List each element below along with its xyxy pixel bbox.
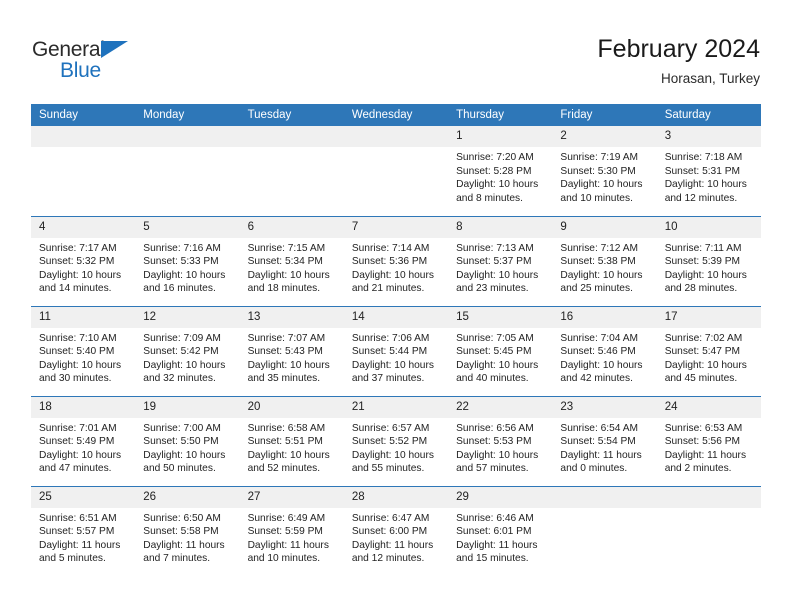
- daylight-line2-text: and 8 minutes.: [456, 192, 546, 206]
- sunrise-text: Sunrise: 7:11 AM: [665, 242, 755, 256]
- daylight-line2-text: and 23 minutes.: [456, 282, 546, 296]
- sunrise-text: Sunrise: 7:16 AM: [143, 242, 233, 256]
- sunset-text: Sunset: 5:52 PM: [352, 435, 442, 449]
- calendar-day-cell[interactable]: 14Sunrise: 7:06 AMSunset: 5:44 PMDayligh…: [344, 306, 448, 396]
- day-details: Sunrise: 7:09 AMSunset: 5:42 PMDaylight:…: [135, 328, 239, 386]
- sunrise-text: Sunrise: 7:09 AM: [143, 332, 233, 346]
- calendar-day-cell[interactable]: 29Sunrise: 6:46 AMSunset: 6:01 PMDayligh…: [448, 486, 552, 576]
- day-number: [344, 126, 448, 147]
- daylight-line2-text: and 12 minutes.: [665, 192, 755, 206]
- sunset-text: Sunset: 5:49 PM: [39, 435, 129, 449]
- calendar-cell-inner: 16Sunrise: 7:04 AMSunset: 5:46 PMDayligh…: [552, 307, 656, 396]
- calendar-cell-inner: 20Sunrise: 6:58 AMSunset: 5:51 PMDayligh…: [240, 397, 344, 486]
- calendar-day-cell[interactable]: 2Sunrise: 7:19 AMSunset: 5:30 PMDaylight…: [552, 126, 656, 216]
- calendar-cell-inner: 11Sunrise: 7:10 AMSunset: 5:40 PMDayligh…: [31, 307, 135, 396]
- sunset-text: Sunset: 5:43 PM: [248, 345, 338, 359]
- daylight-line1-text: Daylight: 10 hours: [248, 269, 338, 283]
- sunrise-text: Sunrise: 7:00 AM: [143, 422, 233, 436]
- day-details: Sunrise: 7:07 AMSunset: 5:43 PMDaylight:…: [240, 328, 344, 386]
- calendar-cell-inner: [240, 126, 344, 216]
- day-number: 5: [135, 217, 239, 238]
- calendar-day-cell[interactable]: 15Sunrise: 7:05 AMSunset: 5:45 PMDayligh…: [448, 306, 552, 396]
- daylight-line2-text: and 47 minutes.: [39, 462, 129, 476]
- weekday-header-monday: Monday: [135, 104, 239, 126]
- daylight-line1-text: Daylight: 10 hours: [560, 178, 650, 192]
- sunrise-text: Sunrise: 7:13 AM: [456, 242, 546, 256]
- day-number: [240, 126, 344, 147]
- calendar-day-cell[interactable]: 1Sunrise: 7:20 AMSunset: 5:28 PMDaylight…: [448, 126, 552, 216]
- calendar-day-cell[interactable]: 4Sunrise: 7:17 AMSunset: 5:32 PMDaylight…: [31, 216, 135, 306]
- day-number: [657, 487, 761, 508]
- calendar-cell-inner: 19Sunrise: 7:00 AMSunset: 5:50 PMDayligh…: [135, 397, 239, 486]
- calendar-cell-inner: 25Sunrise: 6:51 AMSunset: 5:57 PMDayligh…: [31, 487, 135, 577]
- sunset-text: Sunset: 5:33 PM: [143, 255, 233, 269]
- sunset-text: Sunset: 5:30 PM: [560, 165, 650, 179]
- calendar-week-row: 11Sunrise: 7:10 AMSunset: 5:40 PMDayligh…: [31, 306, 761, 396]
- location-subtitle: Horasan, Turkey: [597, 70, 760, 88]
- sunset-text: Sunset: 5:34 PM: [248, 255, 338, 269]
- sunrise-text: Sunrise: 7:01 AM: [39, 422, 129, 436]
- sunrise-text: Sunrise: 6:51 AM: [39, 512, 129, 526]
- calendar-day-cell[interactable]: 13Sunrise: 7:07 AMSunset: 5:43 PMDayligh…: [240, 306, 344, 396]
- calendar-week-row: 18Sunrise: 7:01 AMSunset: 5:49 PMDayligh…: [31, 396, 761, 486]
- calendar-cell-inner: [552, 487, 656, 577]
- sunset-text: Sunset: 5:32 PM: [39, 255, 129, 269]
- sunset-text: Sunset: 6:00 PM: [352, 525, 442, 539]
- page-title: February 2024: [597, 34, 760, 64]
- calendar-cell-inner: 5Sunrise: 7:16 AMSunset: 5:33 PMDaylight…: [135, 217, 239, 306]
- daylight-line2-text: and 14 minutes.: [39, 282, 129, 296]
- blue-triangle-icon: [101, 41, 128, 58]
- day-details: Sunrise: 6:47 AMSunset: 6:00 PMDaylight:…: [344, 508, 448, 566]
- daylight-line1-text: Daylight: 11 hours: [248, 539, 338, 553]
- daylight-line1-text: Daylight: 10 hours: [665, 269, 755, 283]
- daylight-line1-text: Daylight: 10 hours: [248, 449, 338, 463]
- daylight-line2-text: and 18 minutes.: [248, 282, 338, 296]
- sunset-text: Sunset: 6:01 PM: [456, 525, 546, 539]
- day-details: Sunrise: 7:01 AMSunset: 5:49 PMDaylight:…: [31, 418, 135, 476]
- daylight-line1-text: Daylight: 10 hours: [456, 269, 546, 283]
- daylight-line1-text: Daylight: 11 hours: [39, 539, 129, 553]
- day-number: 11: [31, 307, 135, 328]
- calendar-day-cell[interactable]: 6Sunrise: 7:15 AMSunset: 5:34 PMDaylight…: [240, 216, 344, 306]
- day-number: 7: [344, 217, 448, 238]
- calendar-day-cell[interactable]: 24Sunrise: 6:53 AMSunset: 5:56 PMDayligh…: [657, 396, 761, 486]
- daylight-line1-text: Daylight: 11 hours: [143, 539, 233, 553]
- sunrise-text: Sunrise: 7:18 AM: [665, 151, 755, 165]
- calendar-week-row: 1Sunrise: 7:20 AMSunset: 5:28 PMDaylight…: [31, 126, 761, 216]
- daylight-line1-text: Daylight: 10 hours: [665, 178, 755, 192]
- calendar-cell-inner: 9Sunrise: 7:12 AMSunset: 5:38 PMDaylight…: [552, 217, 656, 306]
- calendar-day-cell[interactable]: 26Sunrise: 6:50 AMSunset: 5:58 PMDayligh…: [135, 486, 239, 576]
- sunset-text: Sunset: 5:36 PM: [352, 255, 442, 269]
- day-details: Sunrise: 6:58 AMSunset: 5:51 PMDaylight:…: [240, 418, 344, 476]
- calendar-week-row: 4Sunrise: 7:17 AMSunset: 5:32 PMDaylight…: [31, 216, 761, 306]
- daylight-line1-text: Daylight: 10 hours: [39, 449, 129, 463]
- weekday-header-tuesday: Tuesday: [240, 104, 344, 126]
- calendar-day-cell[interactable]: 28Sunrise: 6:47 AMSunset: 6:00 PMDayligh…: [344, 486, 448, 576]
- calendar-cell-inner: 22Sunrise: 6:56 AMSunset: 5:53 PMDayligh…: [448, 397, 552, 486]
- daylight-line2-text: and 37 minutes.: [352, 372, 442, 386]
- logo-secondary-text: Blue: [60, 59, 101, 83]
- sunset-text: Sunset: 5:59 PM: [248, 525, 338, 539]
- calendar-day-cell[interactable]: 18Sunrise: 7:01 AMSunset: 5:49 PMDayligh…: [31, 396, 135, 486]
- sunset-text: Sunset: 5:57 PM: [39, 525, 129, 539]
- weekday-header-saturday: Saturday: [657, 104, 761, 126]
- sunrise-text: Sunrise: 7:15 AM: [248, 242, 338, 256]
- daylight-line2-text: and 0 minutes.: [560, 462, 650, 476]
- sunrise-text: Sunrise: 6:57 AM: [352, 422, 442, 436]
- day-details: Sunrise: 7:17 AMSunset: 5:32 PMDaylight:…: [31, 238, 135, 296]
- calendar-cell-inner: 6Sunrise: 7:15 AMSunset: 5:34 PMDaylight…: [240, 217, 344, 306]
- calendar-cell-inner: 18Sunrise: 7:01 AMSunset: 5:49 PMDayligh…: [31, 397, 135, 486]
- calendar-header-row: Sunday Monday Tuesday Wednesday Thursday…: [31, 104, 761, 126]
- daylight-line2-text: and 21 minutes.: [352, 282, 442, 296]
- sunrise-text: Sunrise: 6:46 AM: [456, 512, 546, 526]
- sunset-text: Sunset: 5:31 PM: [665, 165, 755, 179]
- day-number: 22: [448, 397, 552, 418]
- sunset-text: Sunset: 5:45 PM: [456, 345, 546, 359]
- daylight-line1-text: Daylight: 11 hours: [665, 449, 755, 463]
- sunrise-text: Sunrise: 7:04 AM: [560, 332, 650, 346]
- day-number: 24: [657, 397, 761, 418]
- calendar-cell-inner: 28Sunrise: 6:47 AMSunset: 6:00 PMDayligh…: [344, 487, 448, 577]
- daylight-line1-text: Daylight: 11 hours: [560, 449, 650, 463]
- day-number: 13: [240, 307, 344, 328]
- day-details: Sunrise: 6:50 AMSunset: 5:58 PMDaylight:…: [135, 508, 239, 566]
- sunrise-text: Sunrise: 7:17 AM: [39, 242, 129, 256]
- sunset-text: Sunset: 5:44 PM: [352, 345, 442, 359]
- daylight-line2-text: and 10 minutes.: [560, 192, 650, 206]
- day-details: Sunrise: 7:10 AMSunset: 5:40 PMDaylight:…: [31, 328, 135, 386]
- sunrise-text: Sunrise: 6:54 AM: [560, 422, 650, 436]
- day-number: 17: [657, 307, 761, 328]
- daylight-line1-text: Daylight: 10 hours: [39, 269, 129, 283]
- title-block: February 2024 Horasan, Turkey: [597, 34, 760, 88]
- daylight-line1-text: Daylight: 10 hours: [352, 359, 442, 373]
- sunset-text: Sunset: 5:39 PM: [665, 255, 755, 269]
- calendar-day-cell[interactable]: 20Sunrise: 6:58 AMSunset: 5:51 PMDayligh…: [240, 396, 344, 486]
- daylight-line2-text: and 40 minutes.: [456, 372, 546, 386]
- calendar-cell-inner: 21Sunrise: 6:57 AMSunset: 5:52 PMDayligh…: [344, 397, 448, 486]
- day-number: 25: [31, 487, 135, 508]
- calendar-cell-inner: 4Sunrise: 7:17 AMSunset: 5:32 PMDaylight…: [31, 217, 135, 306]
- daylight-line1-text: Daylight: 10 hours: [456, 359, 546, 373]
- daylight-line1-text: Daylight: 10 hours: [352, 269, 442, 283]
- calendar-cell-inner: 17Sunrise: 7:02 AMSunset: 5:47 PMDayligh…: [657, 307, 761, 396]
- calendar-day-cell[interactable]: 19Sunrise: 7:00 AMSunset: 5:50 PMDayligh…: [135, 396, 239, 486]
- day-details: Sunrise: 7:20 AMSunset: 5:28 PMDaylight:…: [448, 147, 552, 205]
- calendar-cell-inner: [657, 487, 761, 577]
- sunrise-text: Sunrise: 7:10 AM: [39, 332, 129, 346]
- daylight-line1-text: Daylight: 11 hours: [456, 539, 546, 553]
- sunset-text: Sunset: 5:42 PM: [143, 345, 233, 359]
- weekday-header-sunday: Sunday: [31, 104, 135, 126]
- daylight-line1-text: Daylight: 10 hours: [143, 359, 233, 373]
- day-number: 29: [448, 487, 552, 508]
- calendar-cell-inner: 13Sunrise: 7:07 AMSunset: 5:43 PMDayligh…: [240, 307, 344, 396]
- daylight-line1-text: Daylight: 10 hours: [665, 359, 755, 373]
- sunrise-text: Sunrise: 6:58 AM: [248, 422, 338, 436]
- day-details: Sunrise: 6:54 AMSunset: 5:54 PMDaylight:…: [552, 418, 656, 476]
- sunrise-text: Sunrise: 6:56 AM: [456, 422, 546, 436]
- daylight-line2-text: and 55 minutes.: [352, 462, 442, 476]
- day-number: 10: [657, 217, 761, 238]
- sunrise-text: Sunrise: 6:53 AM: [665, 422, 755, 436]
- page-header: General Blue February 2024 Horasan, Turk…: [0, 0, 792, 100]
- day-number: 14: [344, 307, 448, 328]
- calendar-day-cell[interactable]: 5Sunrise: 7:16 AMSunset: 5:33 PMDaylight…: [135, 216, 239, 306]
- calendar-day-cell[interactable]: 10Sunrise: 7:11 AMSunset: 5:39 PMDayligh…: [657, 216, 761, 306]
- calendar-cell-inner: 27Sunrise: 6:49 AMSunset: 5:59 PMDayligh…: [240, 487, 344, 577]
- day-details: Sunrise: 7:16 AMSunset: 5:33 PMDaylight:…: [135, 238, 239, 296]
- day-number: [552, 487, 656, 508]
- daylight-line2-text: and 5 minutes.: [39, 552, 129, 566]
- sunset-text: Sunset: 5:46 PM: [560, 345, 650, 359]
- day-details: Sunrise: 6:53 AMSunset: 5:56 PMDaylight:…: [657, 418, 761, 476]
- calendar-cell-inner: [31, 126, 135, 216]
- sunrise-text: Sunrise: 7:07 AM: [248, 332, 338, 346]
- day-details: Sunrise: 7:00 AMSunset: 5:50 PMDaylight:…: [135, 418, 239, 476]
- calendar-cell-inner: 29Sunrise: 6:46 AMSunset: 6:01 PMDayligh…: [448, 487, 552, 577]
- day-details: Sunrise: 7:13 AMSunset: 5:37 PMDaylight:…: [448, 238, 552, 296]
- day-number: 23: [552, 397, 656, 418]
- sunset-text: Sunset: 5:56 PM: [665, 435, 755, 449]
- daylight-line2-text: and 10 minutes.: [248, 552, 338, 566]
- brand-logo[interactable]: General Blue: [32, 38, 162, 86]
- calendar-cell-inner: 10Sunrise: 7:11 AMSunset: 5:39 PMDayligh…: [657, 217, 761, 306]
- sunset-text: Sunset: 5:58 PM: [143, 525, 233, 539]
- sunset-text: Sunset: 5:38 PM: [560, 255, 650, 269]
- day-number: 18: [31, 397, 135, 418]
- sunrise-text: Sunrise: 6:47 AM: [352, 512, 442, 526]
- daylight-line2-text: and 2 minutes.: [665, 462, 755, 476]
- calendar-day-cell[interactable]: 21Sunrise: 6:57 AMSunset: 5:52 PMDayligh…: [344, 396, 448, 486]
- calendar-cell-empty: [135, 126, 239, 216]
- calendar-cell-empty: [31, 126, 135, 216]
- sunset-text: Sunset: 5:37 PM: [456, 255, 546, 269]
- daylight-line2-text: and 35 minutes.: [248, 372, 338, 386]
- daylight-line2-text: and 15 minutes.: [456, 552, 546, 566]
- sunrise-text: Sunrise: 7:02 AM: [665, 332, 755, 346]
- daylight-line1-text: Daylight: 11 hours: [352, 539, 442, 553]
- calendar-cell-inner: 26Sunrise: 6:50 AMSunset: 5:58 PMDayligh…: [135, 487, 239, 577]
- calendar-body: 1Sunrise: 7:20 AMSunset: 5:28 PMDaylight…: [31, 126, 761, 576]
- day-number: 4: [31, 217, 135, 238]
- calendar-grid: Sunday Monday Tuesday Wednesday Thursday…: [31, 104, 761, 576]
- day-number: 26: [135, 487, 239, 508]
- calendar-cell-inner: 23Sunrise: 6:54 AMSunset: 5:54 PMDayligh…: [552, 397, 656, 486]
- day-number: 2: [552, 126, 656, 147]
- calendar-cell-inner: [344, 126, 448, 216]
- sunrise-text: Sunrise: 7:20 AM: [456, 151, 546, 165]
- daylight-line2-text: and 32 minutes.: [143, 372, 233, 386]
- daylight-line1-text: Daylight: 10 hours: [143, 269, 233, 283]
- calendar-day-cell[interactable]: 11Sunrise: 7:10 AMSunset: 5:40 PMDayligh…: [31, 306, 135, 396]
- day-number: [135, 126, 239, 147]
- daylight-line2-text: and 30 minutes.: [39, 372, 129, 386]
- sunset-text: Sunset: 5:47 PM: [665, 345, 755, 359]
- daylight-line2-text: and 50 minutes.: [143, 462, 233, 476]
- daylight-line2-text: and 57 minutes.: [456, 462, 546, 476]
- weekday-header-wednesday: Wednesday: [344, 104, 448, 126]
- calendar-day-cell[interactable]: 17Sunrise: 7:02 AMSunset: 5:47 PMDayligh…: [657, 306, 761, 396]
- sunrise-text: Sunrise: 7:14 AM: [352, 242, 442, 256]
- weekday-header-friday: Friday: [552, 104, 656, 126]
- day-number: 20: [240, 397, 344, 418]
- daylight-line1-text: Daylight: 10 hours: [39, 359, 129, 373]
- daylight-line1-text: Daylight: 10 hours: [248, 359, 338, 373]
- day-number: 9: [552, 217, 656, 238]
- daylight-line1-text: Daylight: 10 hours: [352, 449, 442, 463]
- daylight-line2-text: and 52 minutes.: [248, 462, 338, 476]
- calendar-day-cell[interactable]: 27Sunrise: 6:49 AMSunset: 5:59 PMDayligh…: [240, 486, 344, 576]
- calendar-cell-inner: 3Sunrise: 7:18 AMSunset: 5:31 PMDaylight…: [657, 126, 761, 216]
- day-number: 15: [448, 307, 552, 328]
- calendar-cell-empty: [657, 486, 761, 576]
- calendar-day-cell[interactable]: 9Sunrise: 7:12 AMSunset: 5:38 PMDaylight…: [552, 216, 656, 306]
- daylight-line2-text: and 25 minutes.: [560, 282, 650, 296]
- daylight-line2-text: and 45 minutes.: [665, 372, 755, 386]
- sunset-text: Sunset: 5:54 PM: [560, 435, 650, 449]
- calendar-cell-inner: 2Sunrise: 7:19 AMSunset: 5:30 PMDaylight…: [552, 126, 656, 216]
- calendar-cell-inner: 15Sunrise: 7:05 AMSunset: 5:45 PMDayligh…: [448, 307, 552, 396]
- day-details: Sunrise: 7:12 AMSunset: 5:38 PMDaylight:…: [552, 238, 656, 296]
- calendar-cell-inner: 14Sunrise: 7:06 AMSunset: 5:44 PMDayligh…: [344, 307, 448, 396]
- day-number: 3: [657, 126, 761, 147]
- sunrise-text: Sunrise: 7:12 AM: [560, 242, 650, 256]
- daylight-line2-text: and 42 minutes.: [560, 372, 650, 386]
- day-number: 6: [240, 217, 344, 238]
- sunrise-text: Sunrise: 7:05 AM: [456, 332, 546, 346]
- day-details: Sunrise: 6:49 AMSunset: 5:59 PMDaylight:…: [240, 508, 344, 566]
- calendar-cell-empty: [344, 126, 448, 216]
- daylight-line1-text: Daylight: 10 hours: [456, 449, 546, 463]
- calendar-day-cell[interactable]: 8Sunrise: 7:13 AMSunset: 5:37 PMDaylight…: [448, 216, 552, 306]
- day-number: 19: [135, 397, 239, 418]
- day-details: Sunrise: 7:05 AMSunset: 5:45 PMDaylight:…: [448, 328, 552, 386]
- daylight-line1-text: Daylight: 10 hours: [456, 178, 546, 192]
- day-number: [31, 126, 135, 147]
- sunrise-text: Sunrise: 6:49 AM: [248, 512, 338, 526]
- calendar-day-cell[interactable]: 16Sunrise: 7:04 AMSunset: 5:46 PMDayligh…: [552, 306, 656, 396]
- sunrise-text: Sunrise: 6:50 AM: [143, 512, 233, 526]
- calendar-cell-empty: [552, 486, 656, 576]
- calendar-cell-inner: [135, 126, 239, 216]
- day-details: Sunrise: 7:18 AMSunset: 5:31 PMDaylight:…: [657, 147, 761, 205]
- daylight-line2-text: and 28 minutes.: [665, 282, 755, 296]
- calendar-cell-inner: 24Sunrise: 6:53 AMSunset: 5:56 PMDayligh…: [657, 397, 761, 486]
- sunset-text: Sunset: 5:40 PM: [39, 345, 129, 359]
- calendar-day-cell[interactable]: 3Sunrise: 7:18 AMSunset: 5:31 PMDaylight…: [657, 126, 761, 216]
- day-details: Sunrise: 6:51 AMSunset: 5:57 PMDaylight:…: [31, 508, 135, 566]
- calendar-day-cell[interactable]: 22Sunrise: 6:56 AMSunset: 5:53 PMDayligh…: [448, 396, 552, 486]
- sunset-text: Sunset: 5:53 PM: [456, 435, 546, 449]
- daylight-line1-text: Daylight: 10 hours: [560, 359, 650, 373]
- calendar-cell-inner: 1Sunrise: 7:20 AMSunset: 5:28 PMDaylight…: [448, 126, 552, 216]
- daylight-line1-text: Daylight: 10 hours: [560, 269, 650, 283]
- day-number: 28: [344, 487, 448, 508]
- day-details: Sunrise: 7:14 AMSunset: 5:36 PMDaylight:…: [344, 238, 448, 296]
- day-details: Sunrise: 7:19 AMSunset: 5:30 PMDaylight:…: [552, 147, 656, 205]
- day-details: Sunrise: 6:57 AMSunset: 5:52 PMDaylight:…: [344, 418, 448, 476]
- sunrise-text: Sunrise: 7:06 AM: [352, 332, 442, 346]
- day-number: 1: [448, 126, 552, 147]
- day-details: Sunrise: 7:02 AMSunset: 5:47 PMDaylight:…: [657, 328, 761, 386]
- calendar-cell-empty: [240, 126, 344, 216]
- calendar-week-row: 25Sunrise: 6:51 AMSunset: 5:57 PMDayligh…: [31, 486, 761, 576]
- day-number: 21: [344, 397, 448, 418]
- calendar-day-cell[interactable]: 12Sunrise: 7:09 AMSunset: 5:42 PMDayligh…: [135, 306, 239, 396]
- sunrise-text: Sunrise: 7:19 AM: [560, 151, 650, 165]
- daylight-line2-text: and 16 minutes.: [143, 282, 233, 296]
- day-details: Sunrise: 6:56 AMSunset: 5:53 PMDaylight:…: [448, 418, 552, 476]
- day-number: 8: [448, 217, 552, 238]
- day-details: Sunrise: 6:46 AMSunset: 6:01 PMDaylight:…: [448, 508, 552, 566]
- daylight-line2-text: and 12 minutes.: [352, 552, 442, 566]
- weekday-header-thursday: Thursday: [448, 104, 552, 126]
- daylight-line1-text: Daylight: 10 hours: [143, 449, 233, 463]
- daylight-line2-text: and 7 minutes.: [143, 552, 233, 566]
- sunset-text: Sunset: 5:50 PM: [143, 435, 233, 449]
- day-number: 27: [240, 487, 344, 508]
- sunset-text: Sunset: 5:28 PM: [456, 165, 546, 179]
- day-details: Sunrise: 7:06 AMSunset: 5:44 PMDaylight:…: [344, 328, 448, 386]
- calendar-cell-inner: 7Sunrise: 7:14 AMSunset: 5:36 PMDaylight…: [344, 217, 448, 306]
- sunset-text: Sunset: 5:51 PM: [248, 435, 338, 449]
- day-details: Sunrise: 7:15 AMSunset: 5:34 PMDaylight:…: [240, 238, 344, 296]
- calendar-cell-inner: 12Sunrise: 7:09 AMSunset: 5:42 PMDayligh…: [135, 307, 239, 396]
- day-number: 12: [135, 307, 239, 328]
- day-details: Sunrise: 7:11 AMSunset: 5:39 PMDaylight:…: [657, 238, 761, 296]
- calendar-day-cell[interactable]: 7Sunrise: 7:14 AMSunset: 5:36 PMDaylight…: [344, 216, 448, 306]
- day-details: Sunrise: 7:04 AMSunset: 5:46 PMDaylight:…: [552, 328, 656, 386]
- calendar-cell-inner: 8Sunrise: 7:13 AMSunset: 5:37 PMDaylight…: [448, 217, 552, 306]
- day-number: 16: [552, 307, 656, 328]
- calendar-day-cell[interactable]: 25Sunrise: 6:51 AMSunset: 5:57 PMDayligh…: [31, 486, 135, 576]
- calendar-day-cell[interactable]: 23Sunrise: 6:54 AMSunset: 5:54 PMDayligh…: [552, 396, 656, 486]
